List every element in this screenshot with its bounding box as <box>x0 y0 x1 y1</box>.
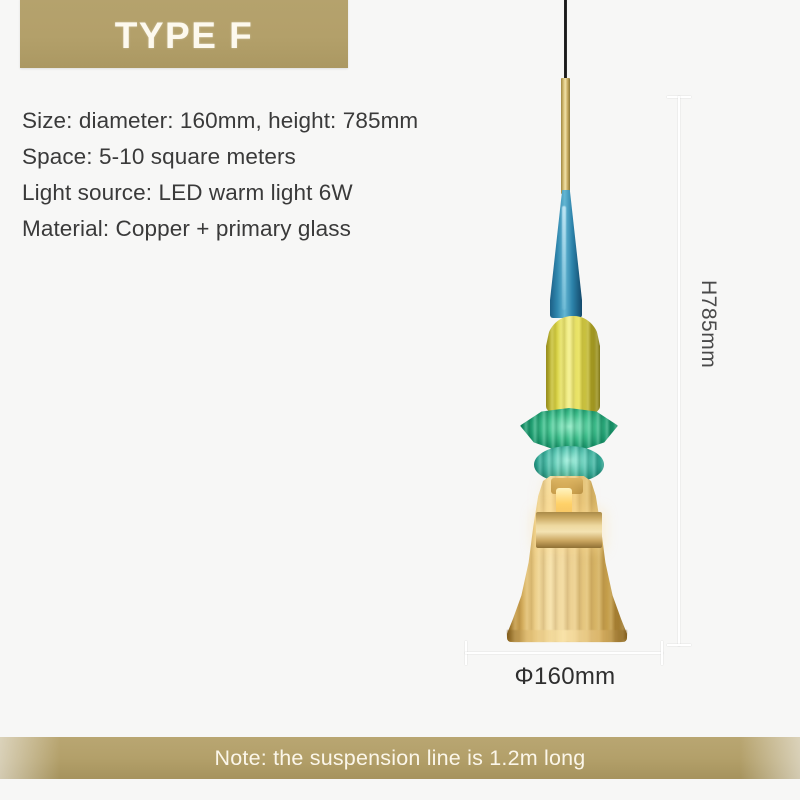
product-spec-canvas: TYPE F Size: diameter: 160mm, height: 78… <box>0 0 800 800</box>
amber-bell-shade <box>507 476 627 642</box>
height-dimension-label: H785mm <box>696 280 720 420</box>
spec-line-material: Material: Copper + primary glass <box>22 211 562 247</box>
diameter-dimension-cap-right <box>661 641 663 665</box>
note-bar-label: Note: the suspension line is 1.2m long <box>215 746 586 771</box>
specification-list: Size: diameter: 160mm, height: 785mm Spa… <box>22 103 562 247</box>
shade-neck <box>551 478 583 494</box>
height-dimension-line <box>678 96 680 646</box>
led-light-module <box>556 488 572 528</box>
spec-line-size: Size: diameter: 160mm, height: 785mm <box>22 103 562 139</box>
note-bar: Note: the suspension line is 1.2m long <box>0 737 800 779</box>
diameter-dimension-label: Φ160mm <box>465 663 665 691</box>
suspension-cord <box>564 0 567 80</box>
green-glass-saucer <box>520 408 618 452</box>
teal-glass-disc <box>534 446 604 482</box>
light-reflector-band <box>536 512 602 548</box>
spec-line-space: Space: 5-10 square meters <box>22 139 562 175</box>
shade-bottom-rim <box>507 630 627 642</box>
yellow-ribbed-glass <box>546 316 600 416</box>
height-dimension-cap-bottom <box>667 644 691 646</box>
spec-line-light-source: Light source: LED warm light 6W <box>22 175 562 211</box>
diameter-dimension-line <box>465 652 663 654</box>
type-badge: TYPE F <box>20 0 348 68</box>
type-badge-label: TYPE F <box>115 13 254 54</box>
blue-glass-highlight <box>562 206 566 310</box>
brass-rod <box>561 78 570 194</box>
